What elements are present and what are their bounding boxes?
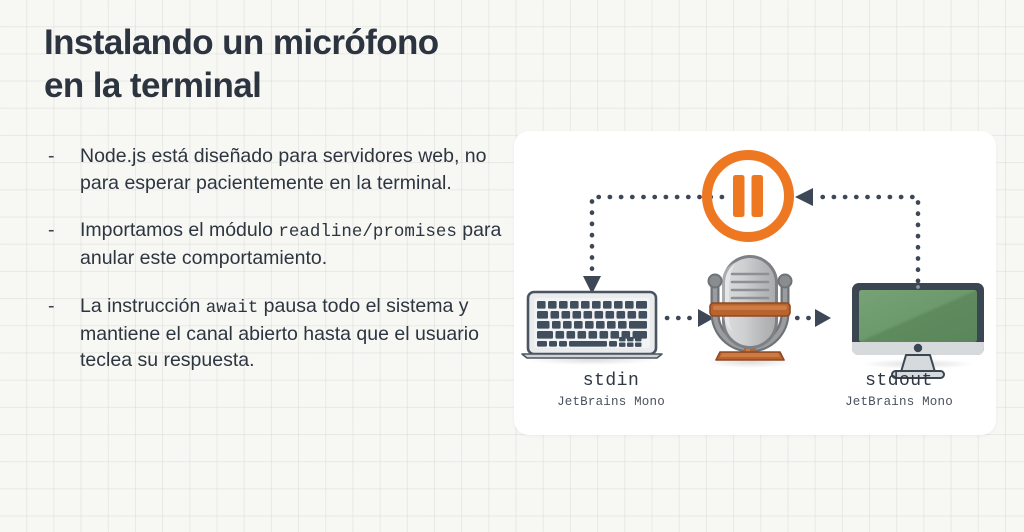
monitor-icon bbox=[852, 283, 984, 378]
inline-code-await: await bbox=[206, 298, 259, 318]
page-title: Instalando un micrófono en la terminal bbox=[44, 22, 504, 107]
bullet-text: Node.js está diseñado para servidores we… bbox=[80, 145, 487, 194]
list-item: - Importamos el módulo readline/promises… bbox=[44, 217, 504, 271]
bullet-marker: - bbox=[48, 143, 55, 170]
stdout-label-group: stdout JetBrains Mono bbox=[804, 371, 994, 409]
bullet-marker: - bbox=[48, 293, 55, 320]
bullet-text: La instrucción await pausa todo el siste… bbox=[80, 295, 479, 371]
diagram-card: stdin JetBrains Mono stdout JetBrains Mo… bbox=[514, 131, 996, 435]
inline-code-readline-promises: readline/promises bbox=[278, 222, 457, 242]
microphone-icon bbox=[706, 255, 794, 368]
bullet-list: - Node.js está diseñado para servidores … bbox=[44, 143, 504, 373]
stdin-sublabel: JetBrains Mono bbox=[516, 395, 706, 409]
arrow-pause-to-stdin bbox=[592, 197, 722, 275]
keyboard-icon bbox=[522, 292, 662, 365]
arrowhead-left-pause bbox=[795, 188, 813, 206]
stdin-label-group: stdin JetBrains Mono bbox=[516, 371, 706, 409]
arrowhead-right-stdout bbox=[815, 309, 831, 327]
pause-icon bbox=[707, 155, 789, 237]
list-item: - Node.js está diseñado para servidores … bbox=[44, 143, 504, 196]
stdout-sublabel: JetBrains Mono bbox=[804, 395, 994, 409]
list-item: - La instrucción await pausa todo el sis… bbox=[44, 293, 504, 374]
bullet-marker: - bbox=[48, 217, 55, 244]
bullet-text-part: Node.js está diseñado para servidores we… bbox=[80, 145, 487, 194]
stdout-label: stdout bbox=[804, 371, 994, 391]
bullet-text: Importamos el módulo readline/promises p… bbox=[80, 219, 501, 269]
content-column: Instalando un micrófono en la terminal -… bbox=[44, 22, 504, 374]
stdin-label: stdin bbox=[516, 371, 706, 391]
slide-canvas: Instalando un micrófono en la terminal -… bbox=[0, 0, 1024, 532]
arrow-stdout-to-pause bbox=[814, 197, 918, 281]
bullet-text-part: La instrucción bbox=[80, 295, 206, 317]
bullet-text-part: Importamos el módulo bbox=[80, 219, 278, 241]
